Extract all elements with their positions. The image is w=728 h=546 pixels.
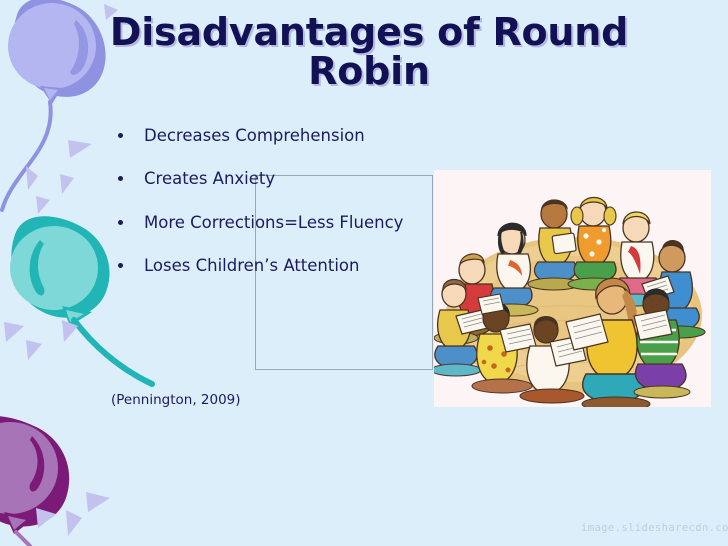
balloon-bottom-string: [16, 532, 30, 546]
confetti-middle: [4, 320, 78, 360]
balloon-bottom-icon: [0, 416, 69, 534]
list-item-label: Decreases Comprehension: [144, 126, 365, 145]
list-item: Decreases Comprehension: [112, 126, 424, 145]
bullet-dot-icon: [118, 263, 123, 268]
list-item-label: More Corrections=Less Fluency: [144, 213, 403, 232]
slide: Disadvantages of Round Robin Decreases C…: [0, 0, 728, 546]
bullet-dot-icon: [118, 176, 123, 181]
list-item-label: Creates Anxiety: [144, 169, 275, 188]
bullet-dot-icon: [118, 133, 123, 138]
citation-text: (Pennington, 2009): [111, 392, 241, 408]
watermark-text: image.slidesharecdn.com: [581, 522, 728, 534]
children-reading-circle-image: [434, 170, 711, 407]
list-item: Loses Children’s Attention: [112, 256, 424, 275]
list-item: Creates Anxiety: [112, 169, 424, 188]
list-item: More Corrections=Less Fluency: [112, 213, 424, 232]
confetti-bottom: [36, 492, 110, 536]
list-item-label: Loses Children’s Attention: [144, 256, 359, 275]
balloon-middle-icon: [10, 216, 110, 326]
balloon-top-string: [2, 102, 51, 210]
balloon-middle-string: [74, 320, 152, 384]
page-title: Disadvantages of Round Robin: [86, 13, 652, 91]
bullet-dot-icon: [118, 220, 123, 225]
bullet-list: Decreases Comprehension Creates Anxiety …: [112, 126, 424, 300]
book-on-floor: [478, 294, 504, 314]
